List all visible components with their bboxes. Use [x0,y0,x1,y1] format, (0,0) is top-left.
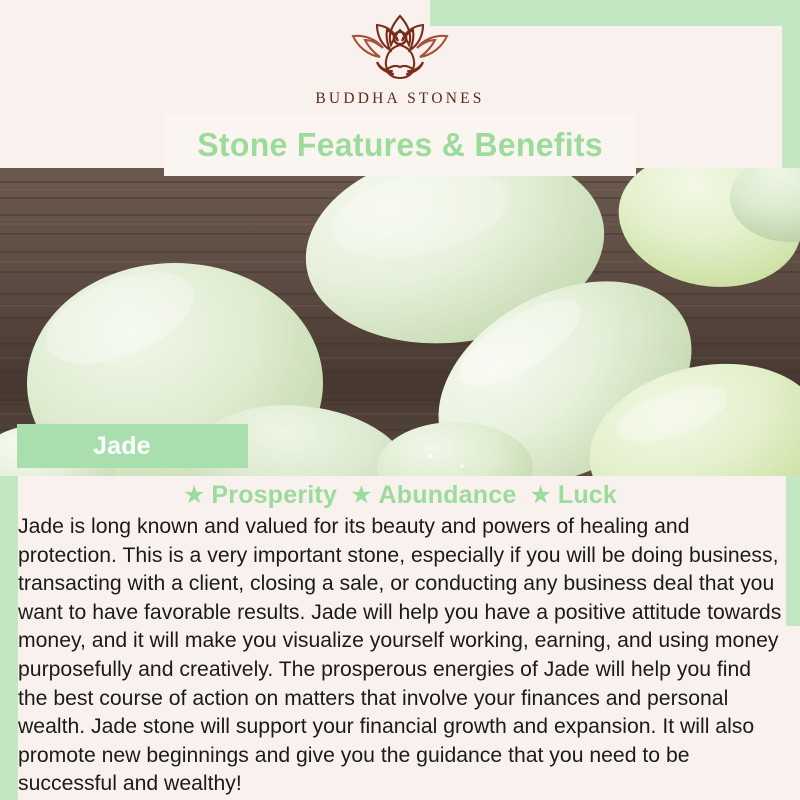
keyword-label: Abundance [379,481,517,510]
keyword-item-abundance: ★ Abundance [350,481,516,510]
description-text: Jade is long known and valued for its be… [18,512,782,798]
keyword-label: Prosperity [211,481,337,510]
infographic-page: BUDDHA STONES [0,0,800,800]
lotus-meditation-icon [325,12,475,86]
decor-strip-left [0,476,18,800]
brand-logo-block: BUDDHA STONES [0,0,800,120]
keyword-item-luck: ★ Luck [529,481,617,510]
keyword-item-prosperity: ★ Prosperity [183,481,337,510]
star-icon: ★ [183,483,205,508]
section-title-panel: Stone Features & Benefits [164,114,636,176]
star-icon: ★ [529,483,551,508]
page-title: Stone Features & Benefits [197,126,603,164]
brand-name: BUDDHA STONES [315,90,484,108]
stone-name: Jade [93,432,151,461]
keyword-list: ★ Prosperity ★ Abundance ★ Luck [0,478,800,512]
keyword-label: Luck [558,481,617,510]
description-block: Jade is long known and valued for its be… [18,512,786,798]
star-icon: ★ [350,483,372,508]
stone-name-band: Jade [17,424,248,468]
